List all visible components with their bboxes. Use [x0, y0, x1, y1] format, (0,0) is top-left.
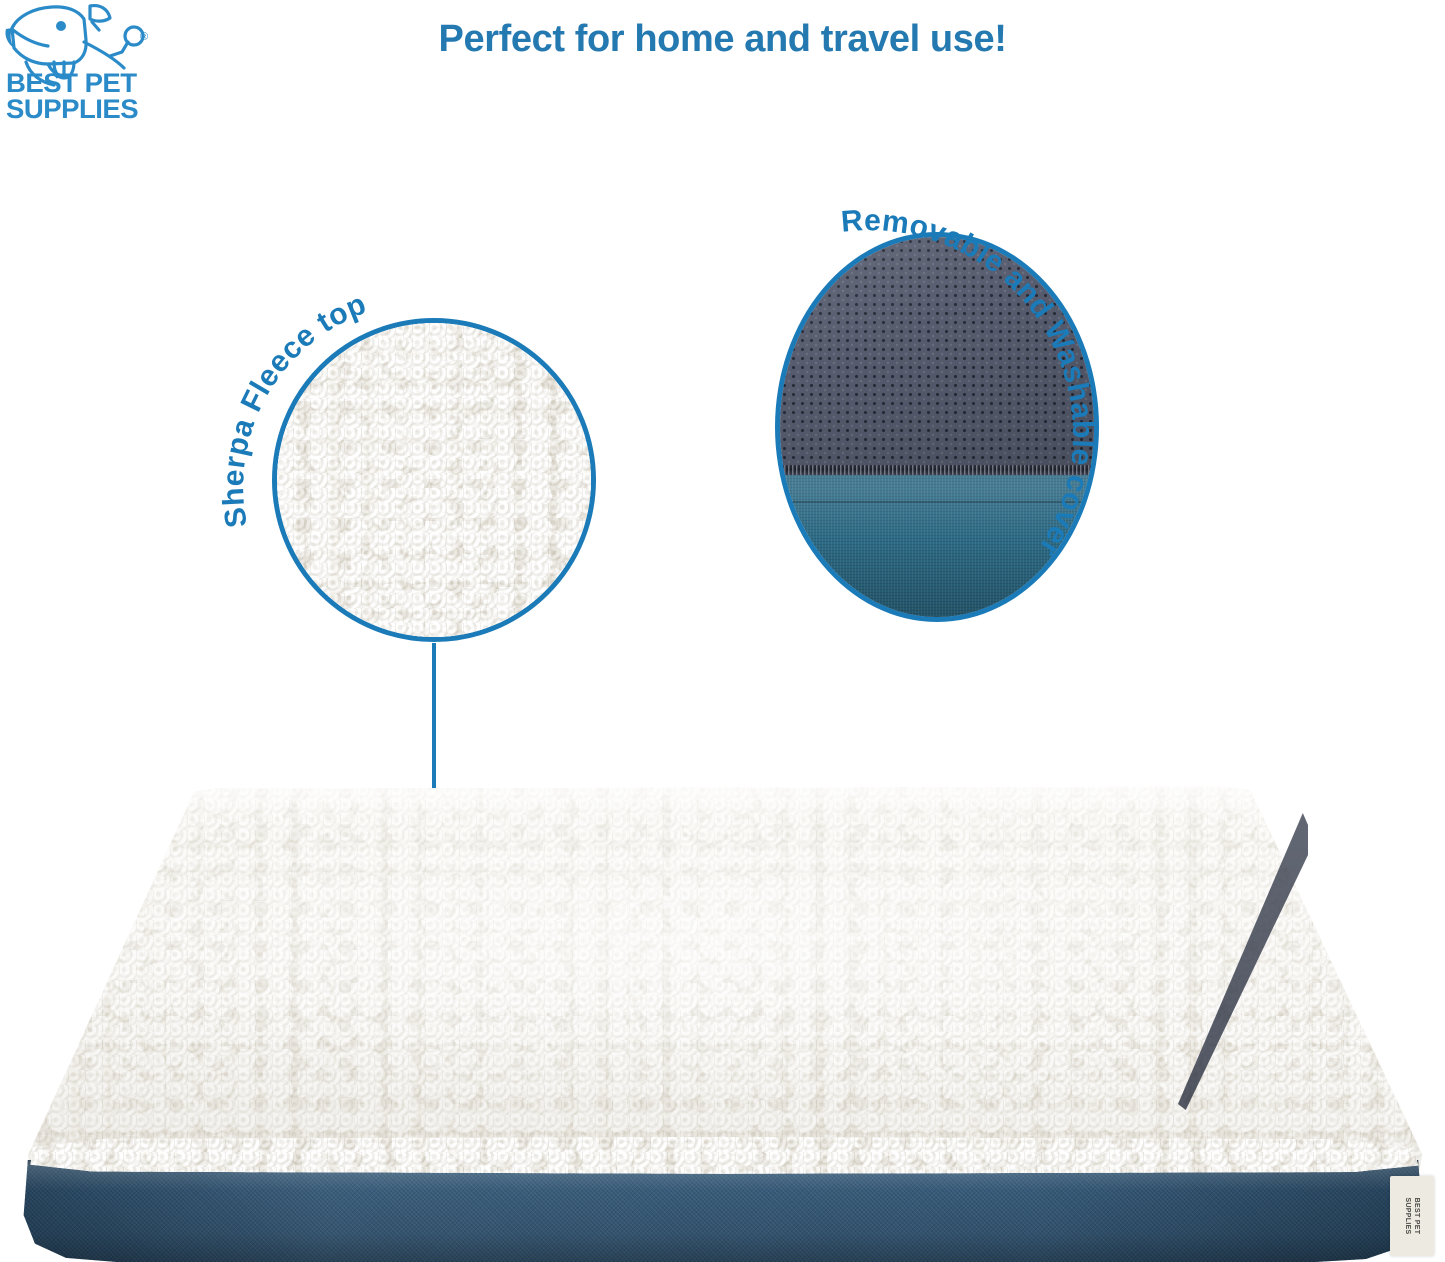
- leader-line-sherpa: [432, 643, 436, 803]
- callout-circle-cover: [775, 232, 1099, 622]
- callout-removable-washable-cover: Removable and Washable cover: [775, 232, 1099, 622]
- zipper-icon: [780, 465, 1094, 475]
- perforated-mesh-texture: [780, 237, 1094, 473]
- callout-circle-sherpa: [272, 318, 596, 642]
- callout-sherpa-fleece-top: Sherpa Fleece top: [272, 318, 596, 642]
- cover-fabric-texture: [780, 475, 1094, 617]
- product-feature-image: ® BEST PET SUPPLIES Perfect for home and…: [0, 0, 1445, 1262]
- care-tag-line2: SUPPLIES: [1404, 1197, 1411, 1234]
- care-tag-line1: BEST PET: [1413, 1198, 1420, 1235]
- care-tag: BEST PET SUPPLIES: [1390, 1176, 1434, 1256]
- brand-wordmark-line2: SUPPLIES: [6, 93, 138, 124]
- bed-navy-base: [18, 1160, 1428, 1262]
- product-dog-bed: [18, 785, 1428, 1262]
- sherpa-fleece-texture: [277, 323, 591, 637]
- page-title: Perfect for home and travel use!: [0, 18, 1445, 61]
